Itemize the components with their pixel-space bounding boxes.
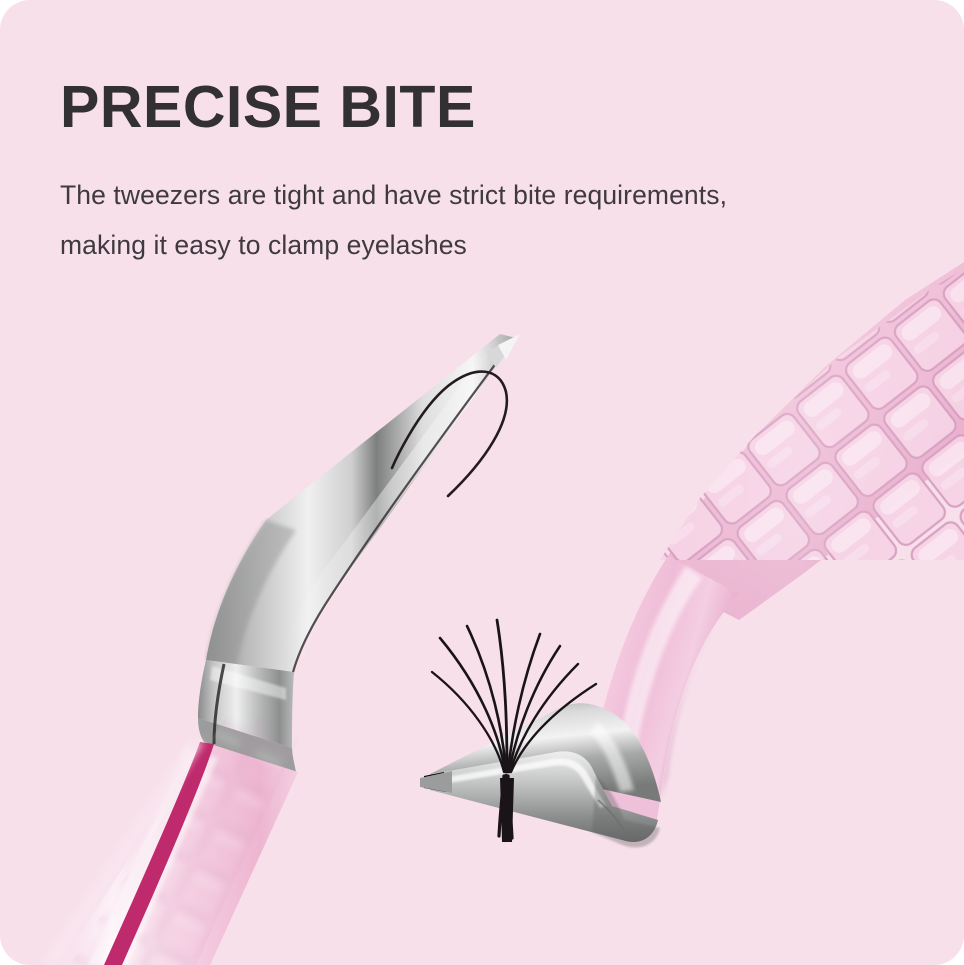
left-tweezer-tip [198, 334, 520, 772]
product-photo [0, 0, 964, 965]
left-tweezer-handle [40, 720, 340, 965]
lash-fan-base [500, 778, 514, 842]
right-tweezer-metal-tip [420, 703, 661, 847]
product-feature-card: PRECISE BITE The tweezers are tight and … [0, 0, 964, 965]
